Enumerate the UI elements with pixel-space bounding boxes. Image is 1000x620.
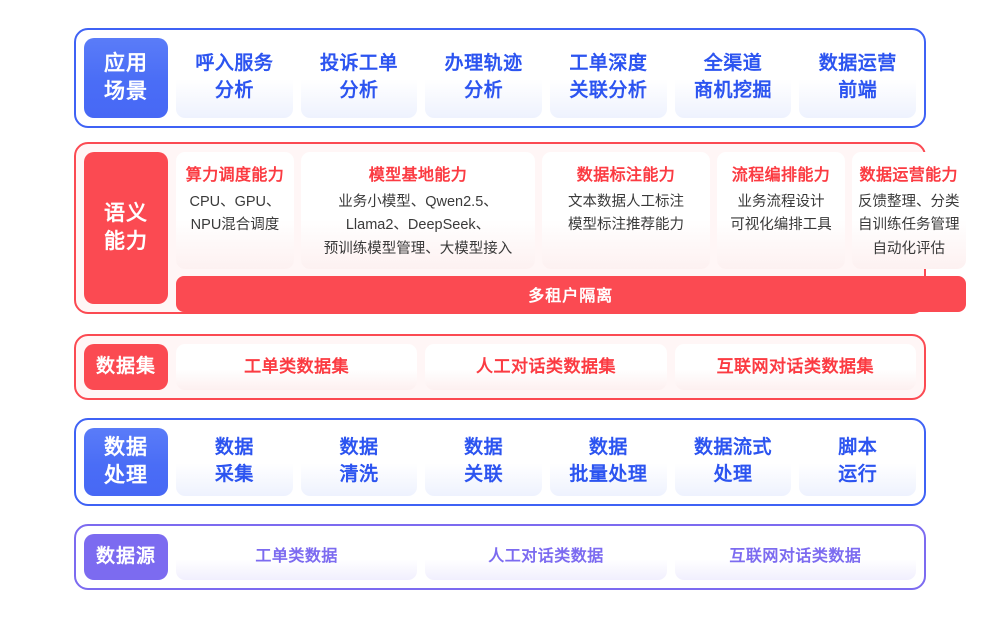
tile-line-1: 呼入服务 (195, 51, 273, 78)
tile-line-2: 分析 (215, 78, 254, 105)
capability-body-line: 业务小模型、Qwen2.5、 (324, 191, 513, 214)
row-label-line-2: 场景 (104, 78, 148, 106)
row-label-line-2: 能力 (104, 228, 148, 256)
tile-line-1: 互联网对话类数据集 (717, 355, 875, 379)
capability-card-compute-scheduling[interactable]: 算力调度能力 CPU、GPU、 NPU混合调度 (176, 152, 294, 269)
scenario-tile-omnichannel-opportunity-mining[interactable]: 全渠道 商机挖掘 (675, 38, 792, 118)
tile-line-2: 商机挖掘 (694, 78, 772, 105)
row-label-line-1: 语义 (104, 200, 148, 228)
tile-line-1: 工单类数据 (255, 546, 338, 569)
tile-line-1: 互联网对话类数据 (729, 546, 861, 569)
tile-line-1: 数据 (589, 435, 628, 462)
capability-body-line: NPU混合调度 (189, 214, 280, 237)
row-label-line-1: 数据源 (96, 544, 156, 569)
row-data-source: 数据源 工单类数据 人工对话类数据 互联网对话类数据 (74, 524, 926, 590)
capability-card-body: 反馈整理、分类 自训练任务管理 自动化评估 (858, 191, 960, 261)
scenario-tile-data-operation-frontend[interactable]: 数据运营 前端 (799, 38, 916, 118)
dataset-tile-ticket-dataset[interactable]: 工单类数据集 (176, 344, 417, 390)
row-label-data-source: 数据源 (84, 534, 168, 580)
row-label-application-scenarios: 应用 场景 (84, 38, 168, 118)
processing-tile-data-batch-processing[interactable]: 数据 批量处理 (550, 428, 667, 496)
capability-card-body: CPU、GPU、 NPU混合调度 (189, 191, 280, 238)
row-semantic-capability: 语义 能力 算力调度能力 CPU、GPU、 NPU混合调度 模型基地能力 业务小… (74, 142, 926, 314)
capability-body-line: Llama2、DeepSeek、 (324, 214, 513, 237)
semantic-capability-content: 算力调度能力 CPU、GPU、 NPU混合调度 模型基地能力 业务小模型、Qwe… (176, 152, 966, 304)
tile-line-2: 分析 (464, 78, 503, 105)
capability-card-body: 文本数据人工标注 模型标注推荐能力 (568, 191, 684, 238)
row-label-line-2: 处理 (104, 462, 148, 490)
capability-card-title: 模型基地能力 (369, 161, 467, 185)
tile-line-1: 工单类数据集 (244, 355, 349, 379)
capability-body-line: 文本数据人工标注 (568, 191, 684, 214)
capability-card-data-annotation[interactable]: 数据标注能力 文本数据人工标注 模型标注推荐能力 (542, 152, 710, 269)
dataset-tile-human-dialog-dataset[interactable]: 人工对话类数据集 (425, 344, 666, 390)
capability-body-line: 模型标注推荐能力 (568, 214, 684, 237)
row-application-scenarios: 应用 场景 呼入服务 分析 投诉工单 分析 办理轨迹 分析 工单深度 关联分析 … (74, 28, 926, 128)
capability-card-body: 业务小模型、Qwen2.5、 Llama2、DeepSeek、 预训练模型管理、… (324, 191, 513, 261)
tile-line-1: 数据 (340, 435, 379, 462)
tile-line-2: 清洗 (340, 462, 379, 489)
tile-line-1: 办理轨迹 (445, 51, 523, 78)
row-data-processing: 数据 处理 数据 采集 数据 清洗 数据 关联 数据 批量处理 数据流式 处理 (74, 418, 926, 506)
tile-line-1: 数据 (464, 435, 503, 462)
capability-card-title: 算力调度能力 (186, 161, 284, 185)
processing-tile-group: 数据 采集 数据 清洗 数据 关联 数据 批量处理 数据流式 处理 脚本 运行 (176, 428, 916, 496)
capability-body-line: 可视化编排工具 (730, 214, 832, 237)
processing-tile-data-collection[interactable]: 数据 采集 (176, 428, 293, 496)
capability-body-line: 预训练模型管理、大模型接入 (324, 238, 513, 261)
capability-body-line: 自训练任务管理 (858, 214, 960, 237)
tile-line-2: 关联分析 (569, 78, 647, 105)
capability-card-title: 数据运营能力 (860, 161, 958, 185)
tile-line-1: 工单深度 (569, 51, 647, 78)
tile-line-2: 关联 (464, 462, 503, 489)
tile-line-2: 采集 (215, 462, 254, 489)
tile-line-1: 全渠道 (704, 51, 763, 78)
row-label-line-1: 应用 (104, 50, 148, 78)
tile-line-1: 脚本 (838, 435, 877, 462)
multi-tenant-isolation-bar[interactable]: 多租户隔离 (176, 276, 966, 312)
capability-body-line: 业务流程设计 (730, 191, 832, 214)
source-tile-ticket-data[interactable]: 工单类数据 (176, 534, 417, 580)
tile-line-2: 分析 (340, 78, 379, 105)
capability-card-model-base[interactable]: 模型基地能力 业务小模型、Qwen2.5、 Llama2、DeepSeek、 预… (301, 152, 535, 269)
scenario-tile-group: 呼入服务 分析 投诉工单 分析 办理轨迹 分析 工单深度 关联分析 全渠道 商机… (176, 38, 916, 118)
capability-card-process-orchestration[interactable]: 流程编排能力 业务流程设计 可视化编排工具 (717, 152, 845, 269)
row-label-data-processing: 数据 处理 (84, 428, 168, 496)
capability-card-data-operation[interactable]: 数据运营能力 反馈整理、分类 自训练任务管理 自动化评估 (852, 152, 966, 269)
tile-line-2: 处理 (714, 462, 753, 489)
tile-line-1: 数据流式 (694, 435, 772, 462)
source-tile-human-dialog-data[interactable]: 人工对话类数据 (425, 534, 666, 580)
row-label-datasets: 数据集 (84, 344, 168, 390)
dataset-tile-group: 工单类数据集 人工对话类数据集 互联网对话类数据集 (176, 344, 916, 390)
capability-body-line: 反馈整理、分类 (858, 191, 960, 214)
tile-line-2: 前端 (838, 78, 877, 105)
row-label-semantic-capability: 语义 能力 (84, 152, 168, 304)
capability-card-title: 数据标注能力 (577, 161, 675, 185)
source-tile-group: 工单类数据 人工对话类数据 互联网对话类数据 (176, 534, 916, 580)
tile-line-2: 批量处理 (569, 462, 647, 489)
processing-tile-data-stream-processing[interactable]: 数据流式 处理 (675, 428, 792, 496)
tile-line-2: 运行 (838, 462, 877, 489)
scenario-tile-complaint-ticket-analysis[interactable]: 投诉工单 分析 (301, 38, 418, 118)
source-tile-internet-dialog-data[interactable]: 互联网对话类数据 (675, 534, 916, 580)
tile-line-1: 人工对话类数据集 (476, 355, 616, 379)
tile-line-1: 数据运营 (819, 51, 897, 78)
tile-line-1: 人工对话类数据 (488, 546, 604, 569)
row-label-line-1: 数据 (104, 434, 148, 462)
scenario-tile-ticket-deep-correlation-analysis[interactable]: 工单深度 关联分析 (550, 38, 667, 118)
processing-tile-data-cleaning[interactable]: 数据 清洗 (301, 428, 418, 496)
tile-line-1: 投诉工单 (320, 51, 398, 78)
capability-body-line: 自动化评估 (858, 238, 960, 261)
capability-card-title: 流程编排能力 (732, 161, 830, 185)
capability-body-line: CPU、GPU、 (189, 191, 280, 214)
scenario-tile-handling-trace-analysis[interactable]: 办理轨迹 分析 (425, 38, 542, 118)
scenario-tile-inbound-service-analysis[interactable]: 呼入服务 分析 (176, 38, 293, 118)
row-label-line-1: 数据集 (96, 354, 156, 379)
dataset-tile-internet-dialog-dataset[interactable]: 互联网对话类数据集 (675, 344, 916, 390)
processing-tile-script-execution[interactable]: 脚本 运行 (799, 428, 916, 496)
tile-line-1: 数据 (215, 435, 254, 462)
architecture-diagram: 应用 场景 呼入服务 分析 投诉工单 分析 办理轨迹 分析 工单深度 关联分析 … (0, 0, 1000, 620)
capability-card-body: 业务流程设计 可视化编排工具 (730, 191, 832, 238)
capability-card-group: 算力调度能力 CPU、GPU、 NPU混合调度 模型基地能力 业务小模型、Qwe… (176, 152, 966, 269)
processing-tile-data-correlation[interactable]: 数据 关联 (425, 428, 542, 496)
row-datasets: 数据集 工单类数据集 人工对话类数据集 互联网对话类数据集 (74, 334, 926, 400)
